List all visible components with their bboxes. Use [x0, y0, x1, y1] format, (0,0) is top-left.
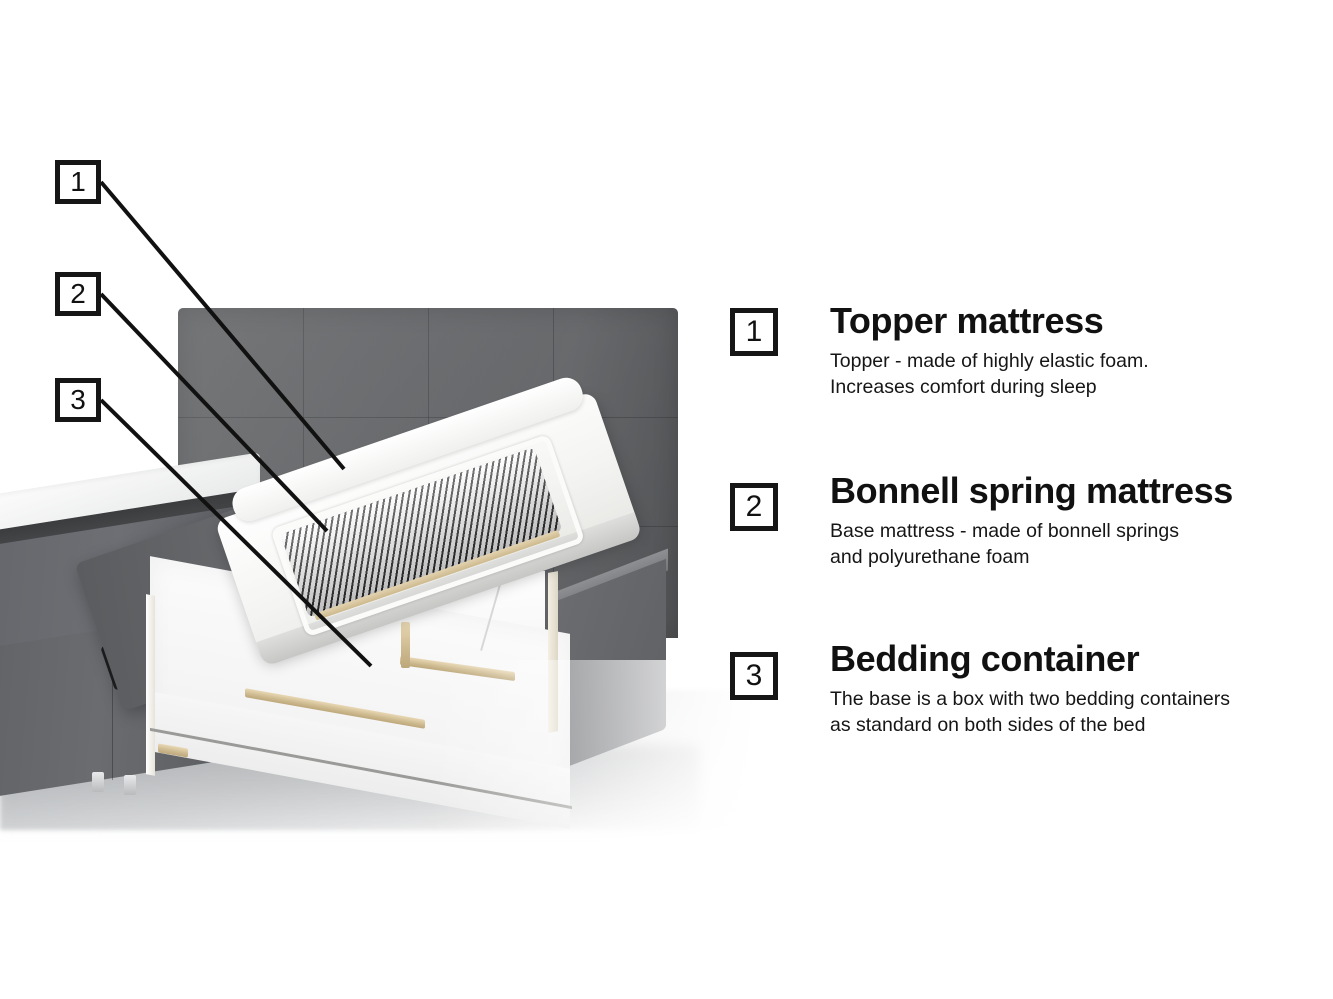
- legend-badge-1: 1: [730, 308, 778, 356]
- legend-description-3: The base is a box with two bedding conta…: [830, 686, 1230, 739]
- legend-entry-3: Bedding container The base is a box with…: [830, 640, 1230, 739]
- wood-slat-corner-vertical: [401, 622, 410, 668]
- floor-fade-mask: [430, 660, 850, 860]
- legend-badge-3: 3: [730, 652, 778, 700]
- bed-foot: [124, 775, 136, 795]
- legend-description-1: Topper - made of highly elastic foam. In…: [830, 348, 1149, 401]
- diagram-canvas: 1 2 3 1 Topper mattress Topper - made of…: [0, 0, 1333, 999]
- legend-entry-1: Topper mattress Topper - made of highly …: [830, 302, 1149, 401]
- legend-title-3: Bedding container: [830, 640, 1230, 678]
- bed-foot: [92, 772, 104, 792]
- legend-badge-2: 2: [730, 483, 778, 531]
- legend-title-1: Topper mattress: [830, 302, 1149, 340]
- callout-badge-2: 2: [55, 272, 101, 316]
- legend-title-2: Bonnell spring mattress: [830, 472, 1233, 510]
- callout-badge-1: 1: [55, 160, 101, 204]
- legend-description-2: Base mattress - made of bonnell springs …: [830, 518, 1233, 571]
- container-left-lip: [146, 594, 155, 776]
- callout-badge-3: 3: [55, 378, 101, 422]
- legend-entry-2: Bonnell spring mattress Base mattress - …: [830, 472, 1233, 571]
